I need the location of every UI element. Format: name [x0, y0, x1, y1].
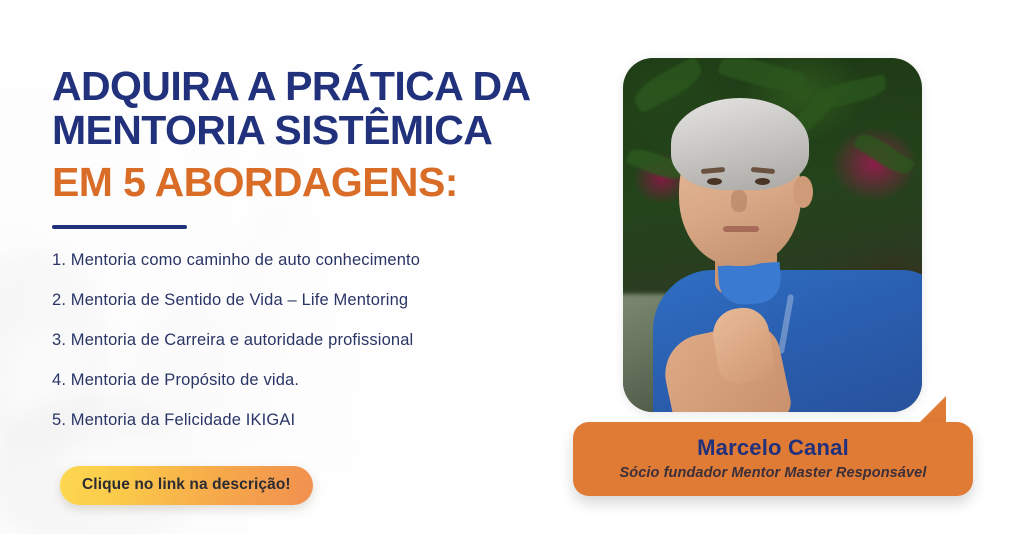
banner-body: Marcelo Canal Sócio fundador Mentor Mast…	[573, 422, 973, 496]
list-item: 2. Mentoria de Sentido de Vida – Life Me…	[52, 290, 572, 310]
promo-banner-canvas: ADQUIRA A PRÁTICA DA MENTORIA SISTÊMICA …	[0, 0, 1024, 534]
list-item: 5. Mentoria da Felicidade IKIGAI	[52, 410, 572, 430]
headline-block: ADQUIRA A PRÁTICA DA MENTORIA SISTÊMICA …	[52, 64, 612, 204]
speaker-photo	[623, 58, 922, 412]
photo-shading-overlay	[623, 58, 922, 412]
headline-line-3-highlight: EM 5 ABORDAGENS:	[52, 160, 612, 204]
speaker-name: Marcelo Canal	[697, 435, 849, 461]
list-item: 3. Mentoria de Carreira e autoridade pro…	[52, 330, 572, 350]
speaker-role: Sócio fundador Mentor Master Responsável	[620, 463, 927, 483]
cta-button[interactable]: Clique no link na descrição!	[60, 466, 313, 505]
speaker-name-banner: Marcelo Canal Sócio fundador Mentor Mast…	[573, 396, 973, 506]
headline-line-1: ADQUIRA A PRÁTICA DA	[52, 64, 612, 108]
headline-divider	[52, 225, 187, 229]
list-item: 1. Mentoria como caminho de auto conheci…	[52, 250, 572, 270]
list-item: 4. Mentoria de Propósito de vida.	[52, 370, 572, 390]
headline-line-2: MENTORIA SISTÊMICA	[52, 108, 612, 152]
left-content: ADQUIRA A PRÁTICA DA MENTORIA SISTÊMICA …	[52, 0, 612, 534]
approach-list: 1. Mentoria como caminho de auto conheci…	[52, 250, 572, 450]
